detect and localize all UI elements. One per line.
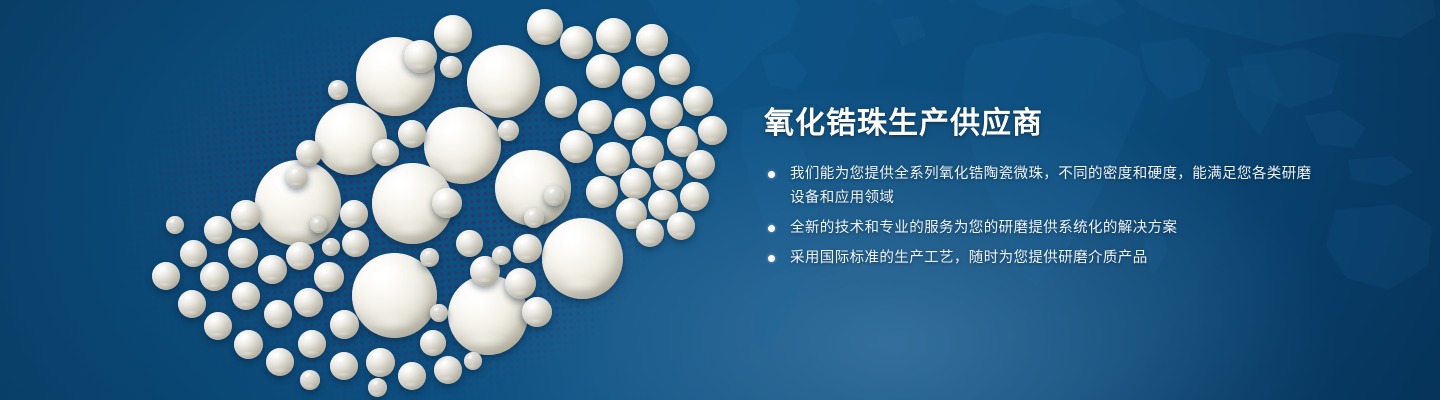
list-item-label: 全新的技术和专业的服务为您的研磨提供系统化的解决方案 xyxy=(790,220,1177,236)
bead-small xyxy=(492,246,511,265)
bead-medium xyxy=(266,348,294,376)
banner-copy: 氧化锆珠生产供应商 我们能为您提供全系列氧化锆陶瓷微珠，不同的密度和硬度，能满足… xyxy=(764,104,1324,270)
bead-medium xyxy=(204,216,232,244)
bead-medium xyxy=(683,86,713,116)
bead-medium xyxy=(366,348,395,377)
list-item-label: 我们能为您提供全系列氧化锆陶瓷微珠，不同的密度和硬度，能满足您各类研磨设备和应用… xyxy=(790,166,1312,206)
bead-small xyxy=(368,378,387,397)
bead-medium xyxy=(560,130,593,163)
bead-medium xyxy=(296,140,322,166)
bead-medium xyxy=(180,240,207,267)
bead-medium xyxy=(330,352,358,380)
bead-medium xyxy=(659,54,690,85)
bead-medium xyxy=(232,282,260,310)
bead-medium xyxy=(456,230,483,257)
bead-medium xyxy=(298,330,326,358)
bead-medium xyxy=(513,234,542,263)
bead-medium xyxy=(404,40,437,73)
bead-medium xyxy=(636,24,668,56)
list-item-label: 采用国际标准的生产工艺，随时为您提供研磨介质产品 xyxy=(790,250,1148,266)
bead-medium xyxy=(342,230,369,257)
bead-small xyxy=(430,304,448,322)
bead-medium xyxy=(527,9,563,45)
bead-medium xyxy=(398,120,426,148)
bullet-dot-icon xyxy=(768,225,775,232)
bead-medium xyxy=(578,100,612,134)
bead-medium xyxy=(234,330,263,359)
bead-medium xyxy=(614,108,646,140)
list-item: 采用国际标准的生产工艺，随时为您提供研磨介质产品 xyxy=(764,246,1324,270)
bead-medium xyxy=(680,182,709,211)
bead-medium xyxy=(178,290,206,318)
bead-large xyxy=(467,45,540,118)
bead-medium xyxy=(698,116,727,145)
bead-small xyxy=(440,56,462,78)
bead-small xyxy=(544,186,564,206)
zirconia-beads-image xyxy=(0,0,760,400)
bead-medium xyxy=(204,312,232,340)
bead-medium xyxy=(622,66,655,99)
list-item: 我们能为您提供全系列氧化锆陶瓷微珠，不同的密度和硬度，能满足您各类研磨设备和应用… xyxy=(764,162,1324,210)
bead-small xyxy=(328,80,348,100)
bead-medium xyxy=(650,96,683,129)
bead-medium xyxy=(258,255,287,284)
page-title: 氧化锆珠生产供应商 xyxy=(764,104,1324,144)
bead-small xyxy=(300,370,320,390)
bead-small xyxy=(310,216,327,233)
bead-small xyxy=(498,120,519,141)
bead-medium xyxy=(586,54,620,88)
bead-medium xyxy=(294,288,323,317)
bead-medium xyxy=(686,150,715,179)
bead-medium xyxy=(330,310,359,339)
bead-medium xyxy=(152,262,180,290)
bead-medium xyxy=(434,15,472,53)
bead-medium xyxy=(667,212,695,240)
bead-medium xyxy=(372,139,399,166)
bead-small xyxy=(166,216,184,234)
bead-small xyxy=(420,248,439,267)
bead-small xyxy=(286,166,308,188)
bead-medium xyxy=(434,356,462,384)
list-item: 全新的技术和专业的服务为您的研磨提供系统化的解决方案 xyxy=(764,216,1324,240)
hero-banner: 氧化锆珠生产供应商 我们能为您提供全系列氧化锆陶瓷微珠，不同的密度和硬度，能满足… xyxy=(0,0,1440,400)
bead-medium xyxy=(432,188,462,218)
bead-medium xyxy=(596,18,631,53)
bead-medium xyxy=(398,362,426,390)
feature-list: 我们能为您提供全系列氧化锆陶瓷微珠，不同的密度和硬度，能满足您各类研磨设备和应用… xyxy=(764,162,1324,270)
bullet-dot-icon xyxy=(768,255,775,262)
bead-medium xyxy=(314,262,344,292)
bead-medium xyxy=(522,297,552,327)
bead-small xyxy=(322,238,340,256)
bead-small xyxy=(464,352,482,370)
bead-small xyxy=(524,208,544,228)
bullet-dot-icon xyxy=(768,171,775,178)
bead-medium xyxy=(264,300,292,328)
bead-medium xyxy=(340,200,368,228)
bead-medium xyxy=(228,238,258,268)
bead-medium xyxy=(545,86,577,118)
bead-large xyxy=(542,218,623,299)
bead-medium xyxy=(636,219,664,247)
bead-medium xyxy=(420,330,446,356)
bead-medium xyxy=(286,242,314,270)
bead-medium xyxy=(231,200,261,230)
bead-medium xyxy=(560,26,593,59)
bead-medium xyxy=(653,160,683,190)
bead-medium xyxy=(200,262,229,291)
bead-large xyxy=(315,103,387,175)
bead-medium xyxy=(620,168,651,199)
bead-medium xyxy=(586,176,618,208)
bead-medium xyxy=(505,268,536,299)
